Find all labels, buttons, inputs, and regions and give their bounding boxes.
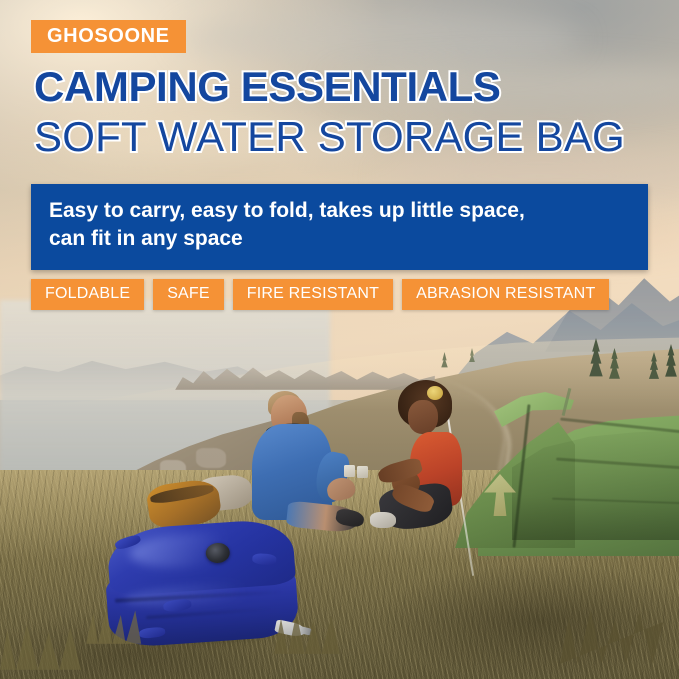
subtitle-line-1: Easy to carry, easy to fold, takes up li… [49, 197, 630, 225]
camper-woman-hair-accessory [427, 386, 443, 400]
headline-line-1: CAMPING ESSENTIALS [34, 66, 501, 108]
camper-woman-head [408, 400, 438, 434]
rock [196, 448, 226, 468]
feature-tag-abrasion-resistant: ABRASION RESISTANT [402, 279, 609, 310]
headline-line-2: SOFT WATER STORAGE BAG [34, 116, 625, 158]
camp-cup [357, 466, 368, 478]
grass-shadow [300, 556, 679, 679]
camp-cup [344, 465, 355, 477]
product-banner: GHOSOONE CAMPING ESSENTIALS SOFT WATER S… [0, 0, 679, 679]
camper-woman-shoe [370, 512, 396, 528]
feature-tag-fire-resistant: FIRE RESISTANT [233, 279, 393, 310]
subtitle-line-2: can fit in any space [49, 225, 630, 253]
subtitle-box: Easy to carry, easy to fold, takes up li… [31, 184, 648, 270]
feature-tag-foldable: FOLDABLE [31, 279, 144, 310]
feature-tag-list: FOLDABLE SAFE FIRE RESISTANT ABRASION RE… [31, 279, 609, 310]
feature-tag-safe: SAFE [153, 279, 224, 310]
brand-badge: GHOSOONE [31, 20, 186, 53]
